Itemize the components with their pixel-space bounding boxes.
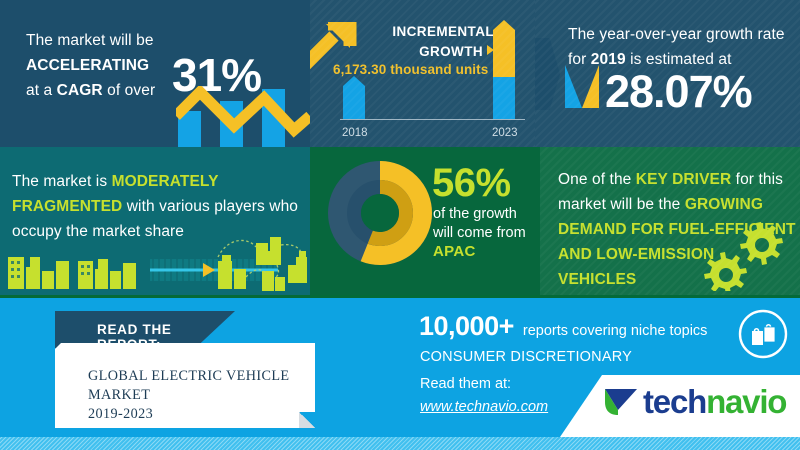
bar-tip bbox=[343, 76, 365, 86]
chevron-notch-icon bbox=[535, 38, 560, 110]
yoy-value: 28.07% bbox=[605, 71, 752, 113]
incremental-growth-value: 6,173.30 thousand units bbox=[333, 62, 488, 77]
cagr-line1-pre: The market will be bbox=[26, 32, 154, 49]
cagr-line2-bold: CAGR bbox=[57, 82, 103, 99]
bar-2018 bbox=[343, 76, 365, 119]
report-count: 10,000+ bbox=[419, 311, 514, 342]
divider bbox=[0, 295, 800, 298]
fragmentation-diagram bbox=[0, 235, 310, 295]
incremental-growth-title: INCREMENTAL GROWTH bbox=[334, 22, 494, 62]
axis-label-2018: 2018 bbox=[342, 127, 368, 139]
logo-text-tech: tech bbox=[643, 383, 706, 420]
driver-text-highlight-1: KEY DRIVER bbox=[636, 171, 731, 188]
bar-body bbox=[343, 86, 365, 119]
gears-icon bbox=[690, 219, 786, 291]
report-title: GLOBAL ELECTRIC VEHICLE MARKET 2019-2023 bbox=[88, 367, 303, 424]
panel-fragmentation: The market is MODERATELY FRAGMENTED with… bbox=[0, 147, 310, 295]
report-count-label: reports covering niche topics bbox=[523, 323, 708, 339]
bar-tip bbox=[493, 20, 515, 30]
yoy-line1: The year-over-year growth rate bbox=[568, 26, 785, 43]
report-card[interactable]: GLOBAL ELECTRIC VEHICLE MARKET 2019-2023 bbox=[55, 343, 315, 428]
panel-apac-share: 56% of the growth will come from APAC bbox=[310, 147, 540, 295]
footer-hatch-strip bbox=[0, 437, 800, 450]
axis-label-2023: 2023 bbox=[492, 127, 518, 139]
apac-subtext: of the growth will come from bbox=[433, 205, 538, 243]
bar-chart-up-icon bbox=[176, 86, 310, 147]
bar-2023 bbox=[493, 20, 515, 119]
frag-text-pre: The market is bbox=[12, 173, 112, 190]
incremental-title-line1: INCREMENTAL bbox=[392, 24, 494, 39]
triangle-right-half bbox=[582, 65, 599, 108]
city-buildings-icon bbox=[0, 235, 310, 295]
report-title-line2: 2019-2023 bbox=[88, 406, 153, 422]
logo-text-navio: navio bbox=[706, 383, 786, 420]
growth-triangle-icon bbox=[565, 65, 599, 108]
panel-yoy-growth: The year-over-year growth rate for 2019 … bbox=[535, 0, 800, 147]
cagr-line2-pre: at a bbox=[26, 82, 57, 99]
read-them-at-label: Read them at: bbox=[420, 376, 511, 392]
yoy-statement: The year-over-year growth rate for 2019 … bbox=[568, 22, 793, 72]
bar-segment-base bbox=[493, 77, 515, 119]
trend-zigzag-icon bbox=[176, 86, 310, 147]
technavio-url-link[interactable]: www.technavio.com bbox=[420, 399, 548, 415]
technavio-logo-text: technavio bbox=[643, 383, 786, 421]
shopping-bags-icon bbox=[738, 309, 788, 359]
report-count-row: 10,000+ reports covering niche topics bbox=[419, 311, 707, 342]
footer: READ THE REPORT: GLOBAL ELECTRIC VEHICLE… bbox=[0, 295, 800, 450]
panel-key-driver: One of the KEY DRIVER for this market wi… bbox=[540, 147, 800, 295]
triangle-left-half bbox=[565, 65, 582, 108]
driver-text-pre: One of the bbox=[558, 171, 636, 188]
report-category: CONSUMER DISCRETIONARY bbox=[420, 349, 632, 365]
infographic-canvas: The market will be ACCELERATING at a CAG… bbox=[0, 0, 800, 450]
panel-cagr: The market will be ACCELERATING at a CAG… bbox=[0, 0, 310, 147]
fragmentation-statement: The market is MODERATELY FRAGMENTED with… bbox=[12, 169, 302, 244]
bar-segment-growth bbox=[493, 30, 515, 77]
chart-axis-line bbox=[340, 119, 525, 120]
cagr-line1-bold: ACCELERATING bbox=[26, 57, 149, 74]
panel-incremental-growth: INCREMENTAL GROWTH 6,173.30 thousand uni… bbox=[310, 0, 535, 147]
page-fold-icon bbox=[299, 412, 315, 428]
report-title-line1: GLOBAL ELECTRIC VEHICLE MARKET bbox=[88, 368, 290, 403]
apac-value: 56% bbox=[432, 161, 511, 206]
cagr-line2-post: of over bbox=[103, 82, 156, 99]
technavio-plane-icon bbox=[604, 386, 638, 416]
donut-chart-icon bbox=[328, 161, 432, 265]
incremental-title-line2: GROWTH bbox=[419, 44, 483, 59]
apac-region-label: APAC bbox=[433, 243, 476, 260]
read-the-report-tab: READ THE REPORT: bbox=[55, 311, 235, 348]
yoy-value-row: 28.07% bbox=[565, 70, 752, 113]
